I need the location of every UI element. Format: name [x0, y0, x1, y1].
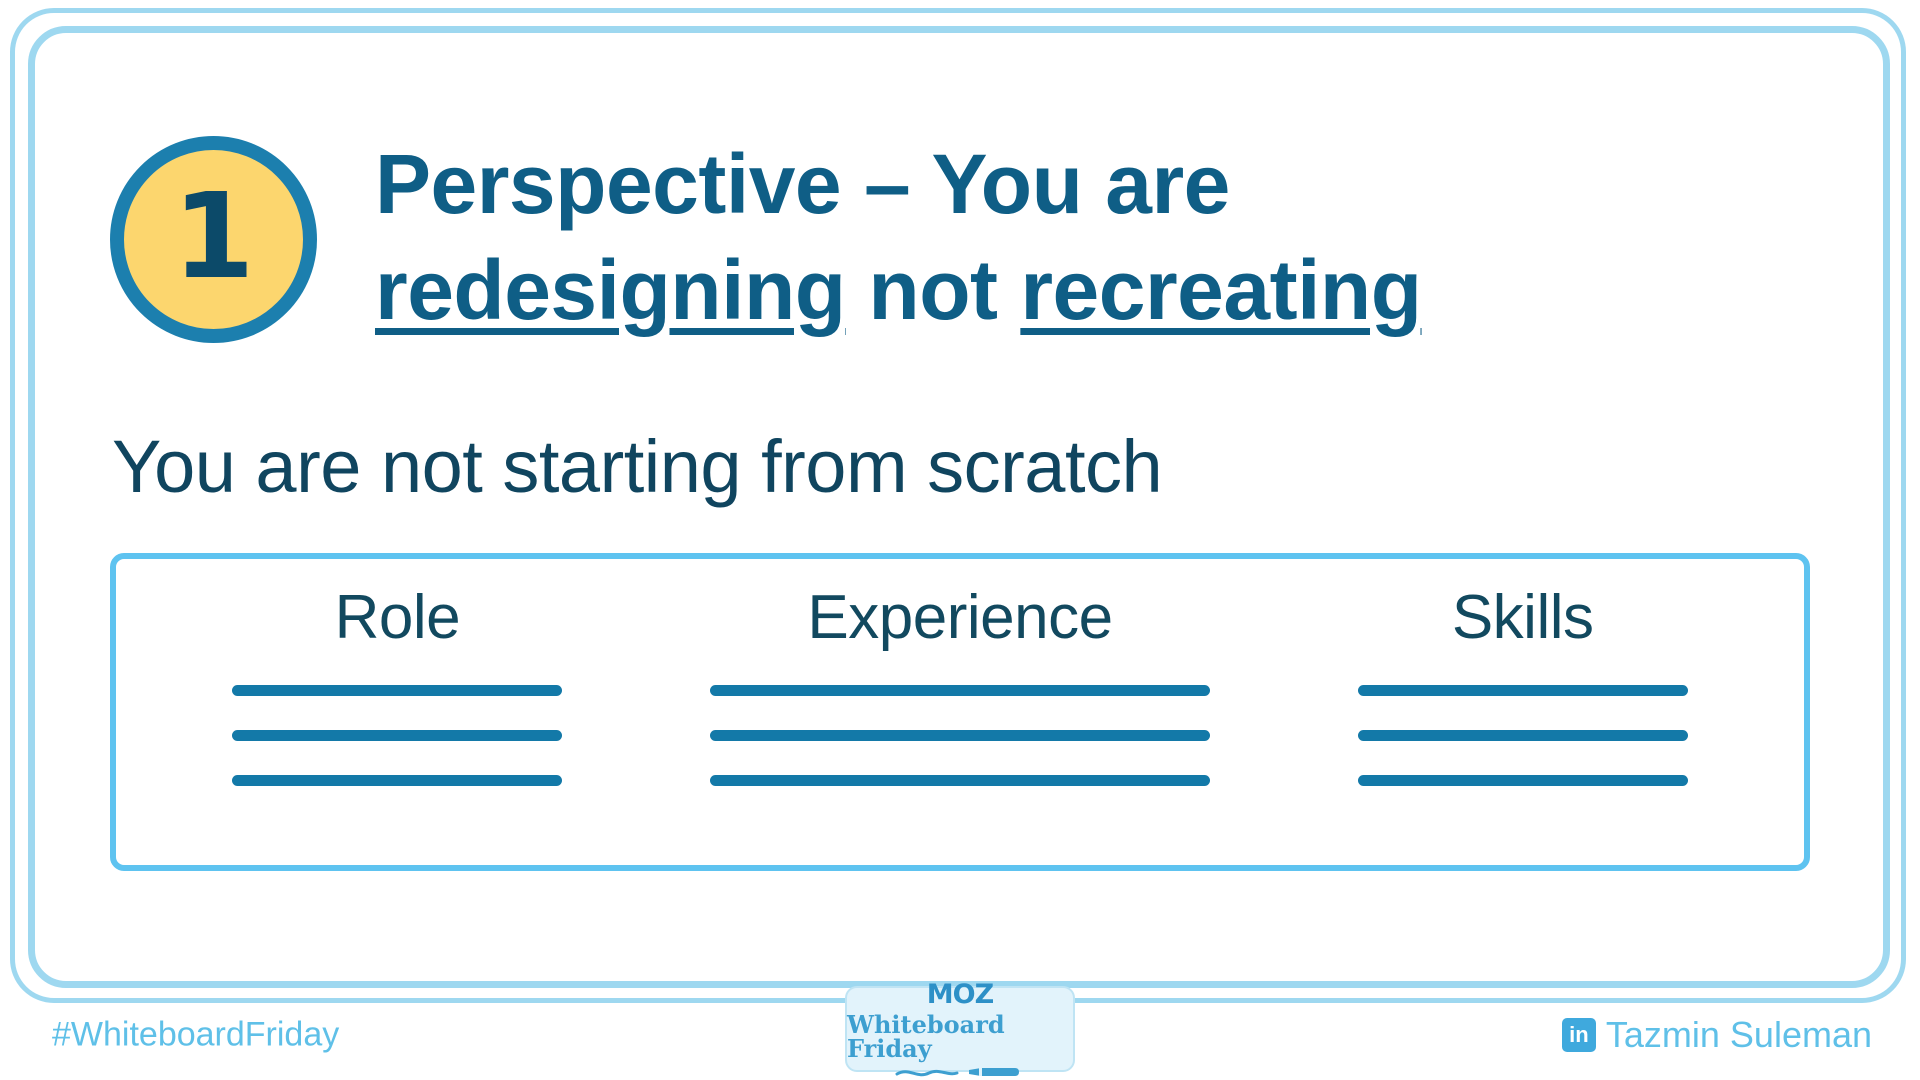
placeholder-line [232, 775, 562, 786]
author-name-label: Tazmin Suleman [1606, 1014, 1872, 1056]
placeholder-line [232, 730, 562, 741]
placeholder-line [710, 685, 1210, 696]
subtitle: You are not starting from scratch [112, 430, 1162, 504]
column-skills: Skills [1241, 559, 1804, 865]
page-title-line-1: Perspective – You are [375, 132, 1422, 238]
column-title-experience: Experience [807, 587, 1112, 649]
placeholder-line [1358, 685, 1688, 696]
placeholder-line [1358, 775, 1688, 786]
columns-panel: Role Experience Skills [110, 553, 1810, 871]
placeholder-line [710, 775, 1210, 786]
moz-brand-label: MOZ [927, 981, 993, 1008]
placeholder-line [710, 730, 1210, 741]
title-emphasis-recreating: recreating [1020, 243, 1421, 337]
title-emphasis-redesigning: redesigning [375, 243, 846, 337]
whiteboard-friday-tagline: Whiteboard Friday [847, 1013, 1073, 1061]
column-title-skills: Skills [1452, 587, 1594, 649]
moz-whiteboard-friday-logo: MOZ Whiteboard Friday [845, 986, 1075, 1072]
linkedin-icon: in [1562, 1018, 1596, 1052]
column-title-role: Role [335, 587, 461, 649]
placeholder-line [232, 685, 562, 696]
marker-icon [895, 1066, 1025, 1080]
column-lines-role [232, 685, 562, 786]
page-title-line-2: redesigning not recreating [375, 238, 1422, 344]
title-block: Perspective – You are redesigning not re… [375, 130, 1422, 344]
column-role: Role [116, 559, 679, 865]
slide-header: 1 Perspective – You are redesigning not … [110, 130, 1810, 344]
placeholder-line [1358, 730, 1688, 741]
step-number-label: 1 [172, 177, 254, 295]
column-lines-experience [710, 685, 1210, 786]
column-lines-skills [1358, 685, 1688, 786]
column-experience: Experience [679, 559, 1242, 865]
step-number-badge: 1 [110, 136, 317, 343]
author-credit: in Tazmin Suleman [1562, 1014, 1872, 1056]
title-connector-not: not [846, 243, 1021, 337]
hashtag-label: #WhiteboardFriday [52, 1016, 339, 1055]
